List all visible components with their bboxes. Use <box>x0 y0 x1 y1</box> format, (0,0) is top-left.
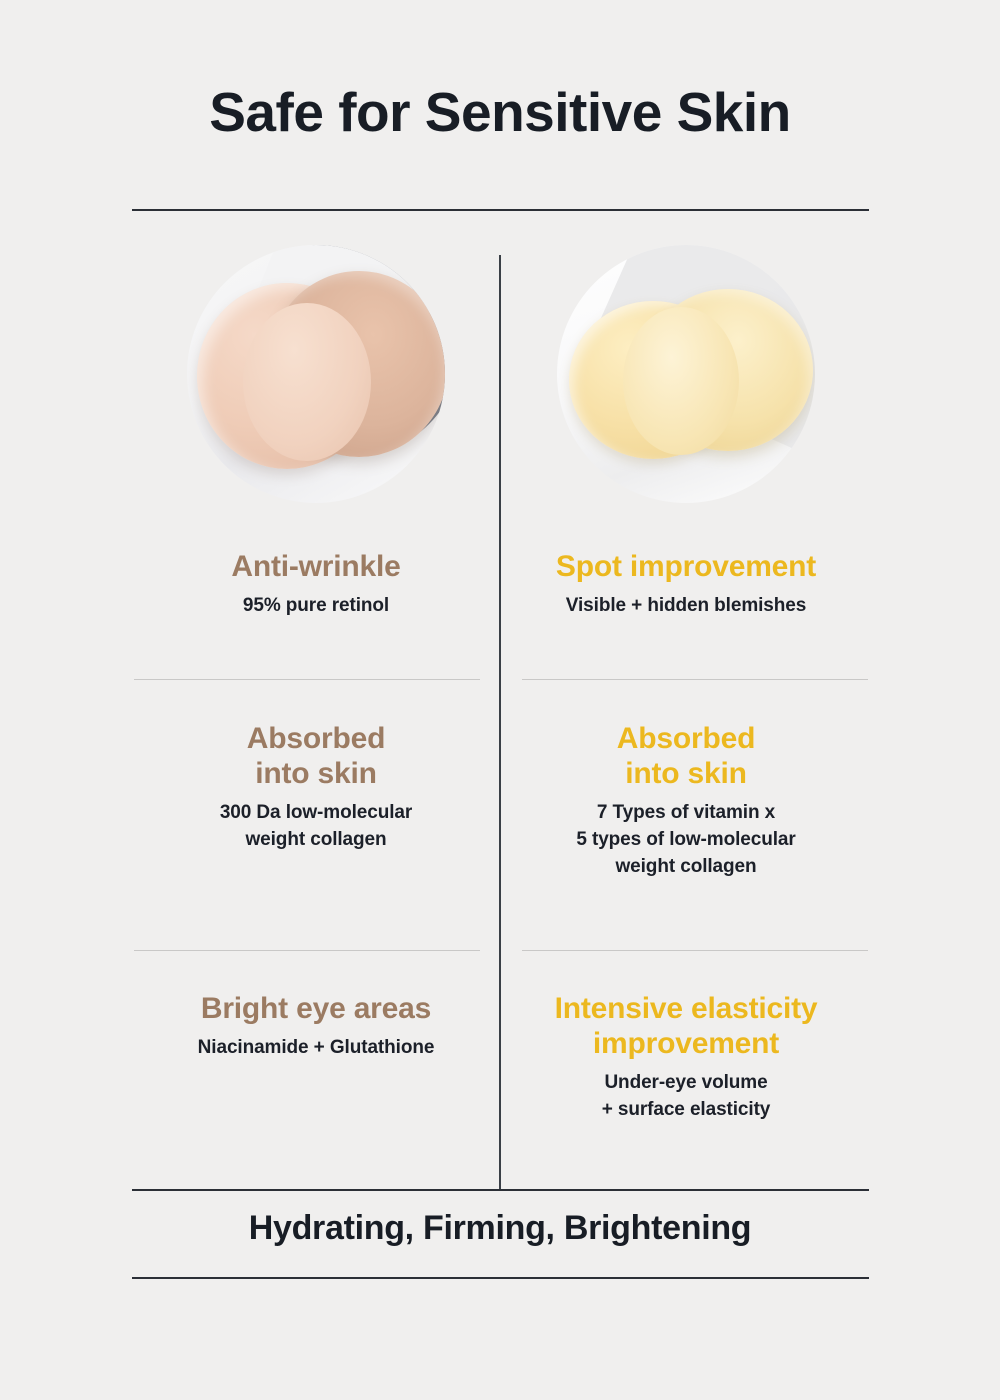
section-left-3: Bright eye areas Niacinamide + Glutathio… <box>132 991 500 1062</box>
section-subtext: Under-eye volume + surface elasticity <box>502 1070 870 1124</box>
footer-top-rule <box>132 1189 869 1191</box>
eye-patch-overlap <box>623 307 739 455</box>
subtext-line: weight collagen <box>132 827 500 854</box>
infographic-page: Safe for Sensitive Skin Anti-wrinkle 95%… <box>0 0 1000 1400</box>
section-heading: Absorbed into skin <box>502 721 870 791</box>
page-title: Safe for Sensitive Skin <box>0 82 1000 143</box>
heading-line: Absorbed <box>132 721 500 756</box>
section-left-1: Anti-wrinkle 95% pure retinol <box>132 549 500 620</box>
section-right-1: Spot improvement Visible + hidden blemis… <box>502 549 870 620</box>
yellow-eye-patches-photo <box>557 245 815 503</box>
subtext-line: + surface elasticity <box>502 1097 870 1124</box>
heading-line: improvement <box>502 1026 870 1061</box>
section-left-2: Absorbed into skin 300 Da low-molecular … <box>132 721 500 854</box>
subtext-line: weight collagen <box>502 854 870 881</box>
subtext-line: Niacinamide + Glutathione <box>132 1035 500 1062</box>
section-heading: Spot improvement <box>502 549 870 584</box>
beige-eye-patches-photo <box>187 245 445 503</box>
section-subtext: 7 Types of vitamin x 5 types of low-mole… <box>502 800 870 881</box>
subtext-line: 5 types of low-molecular <box>502 827 870 854</box>
footer-text: Hydrating, Firming, Brightening <box>0 1209 1000 1248</box>
heading-line: into skin <box>502 756 870 791</box>
section-divider-2 <box>522 950 868 951</box>
eye-patch-overlap <box>243 303 371 461</box>
section-subtext: Niacinamide + Glutathione <box>132 1035 500 1062</box>
column-right: Spot improvement Visible + hidden blemis… <box>502 211 869 1189</box>
section-subtext: Visible + hidden blemishes <box>502 593 870 620</box>
section-divider-2 <box>134 950 480 951</box>
subtext-line: Visible + hidden blemishes <box>502 593 870 620</box>
subtext-line: 95% pure retinol <box>132 593 500 620</box>
section-subtext: 300 Da low-molecular weight collagen <box>132 800 500 854</box>
comparison-columns: Anti-wrinkle 95% pure retinol Absorbed i… <box>132 211 869 1189</box>
section-right-2: Absorbed into skin 7 Types of vitamin x … <box>502 721 870 881</box>
section-subtext: 95% pure retinol <box>132 593 500 620</box>
section-heading: Absorbed into skin <box>132 721 500 791</box>
footer-bottom-rule <box>132 1277 869 1279</box>
section-heading: Anti-wrinkle <box>132 549 500 584</box>
section-right-3: Intensive elasticity improvement Under-e… <box>502 991 870 1124</box>
heading-line: Intensive elasticity <box>502 991 870 1026</box>
section-heading: Bright eye areas <box>132 991 500 1026</box>
subtext-line: 7 Types of vitamin x <box>502 800 870 827</box>
product-image-right <box>502 245 870 521</box>
section-divider-1 <box>522 679 868 680</box>
section-heading: Intensive elasticity improvement <box>502 991 870 1061</box>
column-left: Anti-wrinkle 95% pure retinol Absorbed i… <box>132 211 499 1189</box>
heading-line: into skin <box>132 756 500 791</box>
subtext-line: 300 Da low-molecular <box>132 800 500 827</box>
subtext-line: Under-eye volume <box>502 1070 870 1097</box>
product-image-left <box>132 245 500 521</box>
heading-line: Absorbed <box>502 721 870 756</box>
section-divider-1 <box>134 679 480 680</box>
